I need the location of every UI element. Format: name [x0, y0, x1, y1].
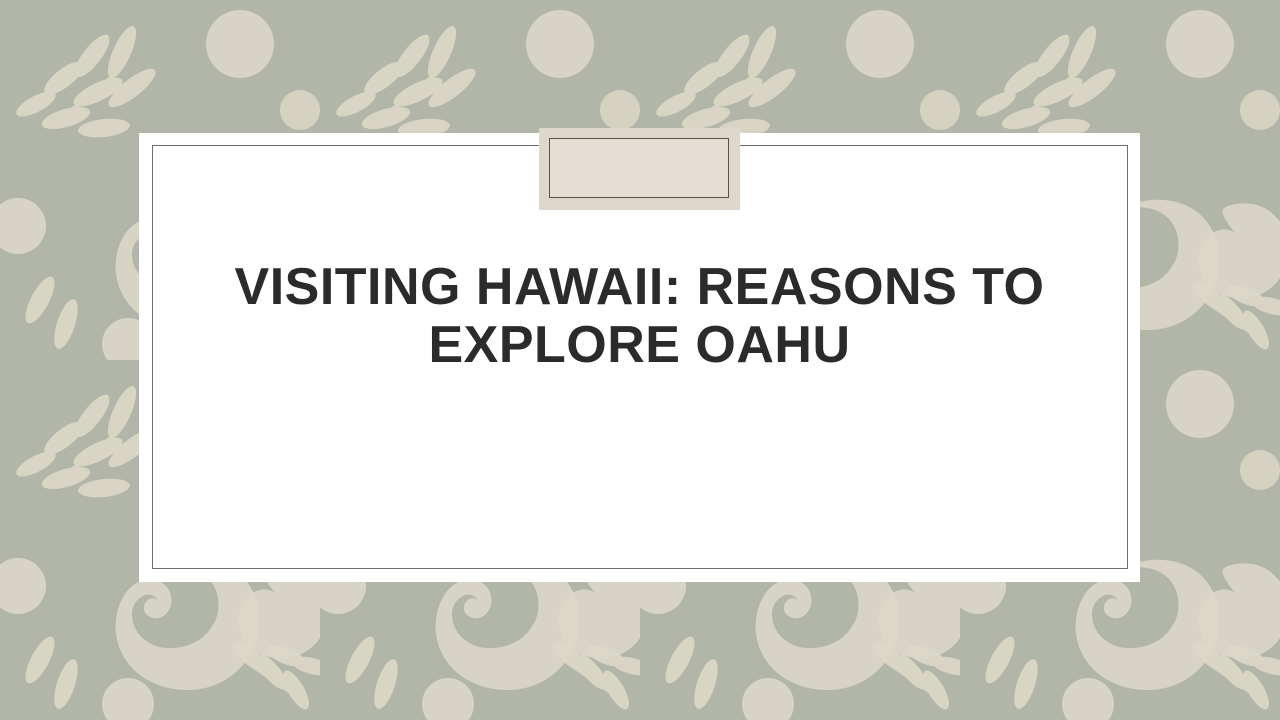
picture-placeholder-frame[interactable] — [539, 128, 740, 210]
presentation-slide: VISITING HAWAII: REASONS TOEXPLORE OAHU — [0, 0, 1280, 720]
picture-placeholder[interactable] — [549, 138, 729, 198]
